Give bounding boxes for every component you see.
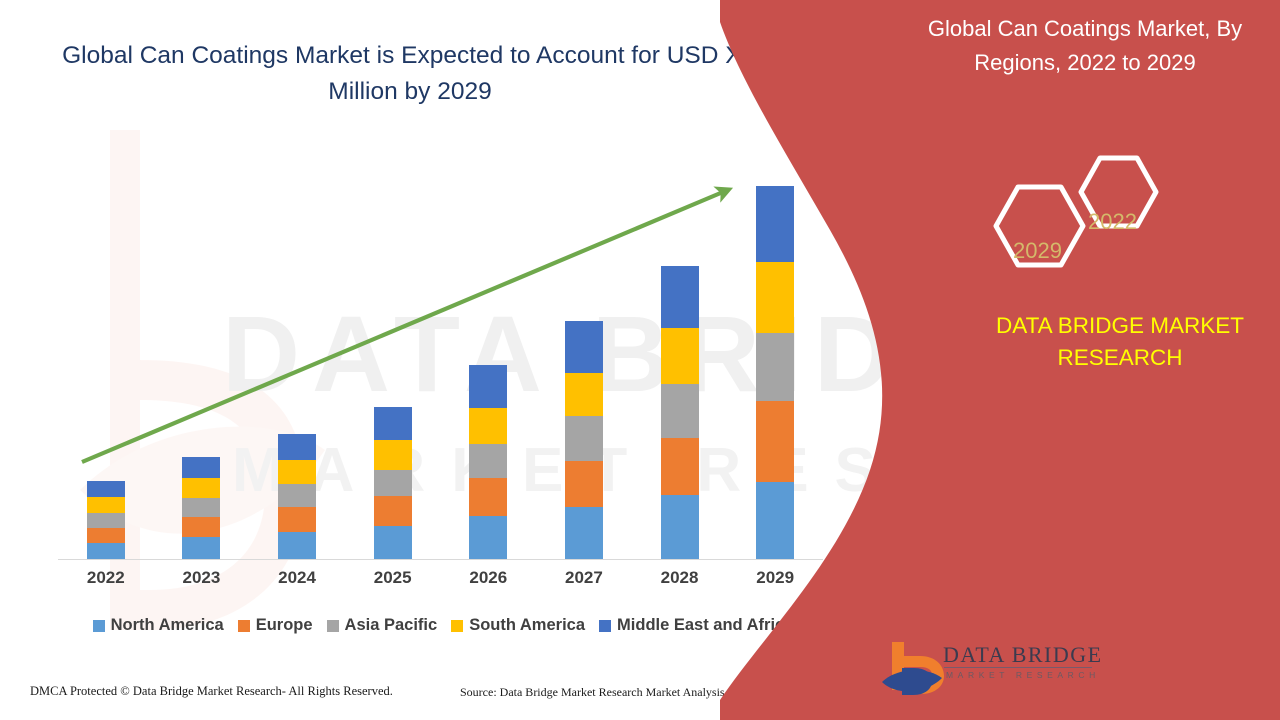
legend-label: North America bbox=[111, 616, 224, 635]
bar-segment bbox=[182, 537, 220, 559]
bar-segment bbox=[661, 495, 699, 559]
hexagon-outlines-icon bbox=[985, 150, 1185, 290]
legend-item-asia-pacific[interactable]: Asia Pacific bbox=[327, 616, 438, 635]
bar-segment bbox=[182, 457, 220, 478]
legend-label: Asia Pacific bbox=[345, 616, 438, 635]
bar-segment bbox=[278, 507, 316, 532]
logo-text-sub: MARKET RESEARCH bbox=[946, 670, 1100, 680]
legend-item-north-america[interactable]: North America bbox=[93, 616, 224, 635]
bar-2022 bbox=[87, 481, 125, 559]
x-label-2027: 2027 bbox=[549, 568, 619, 588]
x-axis-labels: 20222023202420252026202720282029 bbox=[58, 568, 823, 594]
bar-segment bbox=[565, 321, 603, 372]
bar-segment bbox=[565, 461, 603, 507]
legend-item-europe[interactable]: Europe bbox=[238, 616, 313, 635]
bar-segment bbox=[469, 444, 507, 478]
panel-title: Global Can Coatings Market, By Regions, … bbox=[895, 12, 1275, 80]
footer-dmca-notice: DMCA Protected © Data Bridge Market Rese… bbox=[30, 684, 393, 699]
legend-swatch-icon bbox=[451, 620, 463, 632]
x-label-2022: 2022 bbox=[71, 568, 141, 588]
bar-2027 bbox=[565, 321, 603, 559]
bar-segment bbox=[374, 496, 412, 526]
bar-segment bbox=[469, 478, 507, 516]
legend-label: South America bbox=[469, 616, 585, 635]
bar-segment bbox=[87, 528, 125, 543]
x-label-2025: 2025 bbox=[358, 568, 428, 588]
infographic-slide: DATA BRIDGE MARKET RESEARCH Global Can C… bbox=[0, 0, 1280, 720]
bar-segment bbox=[469, 365, 507, 407]
bar-segment bbox=[661, 384, 699, 438]
bar-segment bbox=[374, 470, 412, 496]
bar-2028 bbox=[661, 266, 699, 559]
bar-segment bbox=[374, 526, 412, 559]
bar-segment bbox=[661, 266, 699, 328]
logo-divider bbox=[944, 667, 1092, 668]
bar-2025 bbox=[374, 407, 412, 559]
bar-2023 bbox=[182, 457, 220, 559]
bar-segment bbox=[87, 513, 125, 528]
bar-segment bbox=[565, 373, 603, 416]
bar-segment bbox=[182, 498, 220, 517]
x-label-2028: 2028 bbox=[645, 568, 715, 588]
bar-segment bbox=[469, 408, 507, 444]
bar-2026 bbox=[469, 365, 507, 559]
x-label-2024: 2024 bbox=[262, 568, 332, 588]
bar-segment bbox=[278, 532, 316, 559]
legend-swatch-icon bbox=[238, 620, 250, 632]
chart-legend: North AmericaEuropeAsia PacificSouth Ame… bbox=[58, 616, 828, 635]
bar-segment bbox=[374, 407, 412, 440]
bar-segment bbox=[87, 497, 125, 513]
legend-swatch-icon bbox=[327, 620, 339, 632]
bar-segment bbox=[469, 516, 507, 559]
bar-segment bbox=[661, 328, 699, 383]
bar-segment bbox=[374, 440, 412, 470]
bar-segment bbox=[182, 478, 220, 498]
x-label-2023: 2023 bbox=[166, 568, 236, 588]
hex-label-end-year: 2029 bbox=[1013, 238, 1062, 264]
bar-segment bbox=[278, 484, 316, 507]
data-bridge-logo: DATA BRIDGE MARKET RESEARCH bbox=[880, 636, 1105, 702]
chart-plot-area bbox=[58, 150, 823, 560]
x-axis-line bbox=[58, 559, 823, 560]
bar-segment bbox=[278, 434, 316, 460]
legend-swatch-icon bbox=[93, 620, 105, 632]
legend-swatch-icon bbox=[599, 620, 611, 632]
logo-mark-icon bbox=[880, 638, 950, 700]
x-label-2026: 2026 bbox=[453, 568, 523, 588]
legend-label: Europe bbox=[256, 616, 313, 635]
bar-2024 bbox=[278, 434, 316, 559]
bar-segment bbox=[182, 517, 220, 537]
chart-title: Global Can Coatings Market is Expected t… bbox=[60, 38, 760, 110]
bar-segment bbox=[661, 438, 699, 495]
bar-segment bbox=[278, 460, 316, 484]
bar-segment bbox=[87, 481, 125, 497]
hex-label-start-year: 2022 bbox=[1088, 209, 1137, 235]
logo-text-main: DATA BRIDGE bbox=[943, 642, 1103, 668]
brand-name: DATA BRIDGE MARKET RESEARCH bbox=[960, 310, 1280, 374]
hexagon-badges: 2022 2029 bbox=[985, 150, 1185, 290]
bar-segment bbox=[565, 416, 603, 461]
bar-segment bbox=[87, 543, 125, 559]
legend-item-south-america[interactable]: South America bbox=[451, 616, 585, 635]
bar-segment bbox=[565, 507, 603, 559]
